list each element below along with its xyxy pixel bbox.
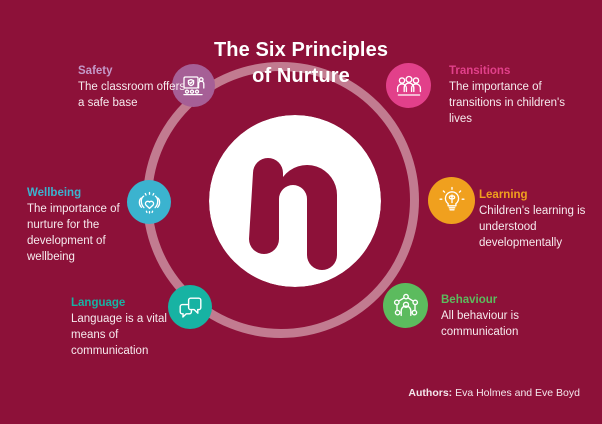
page-title: The Six Principles of Nurture [181,38,421,89]
infographic-poster: The Six Principles of Nurture [0,0,602,424]
label-transitions-heading: Transitions [449,64,579,79]
label-safety-heading: Safety [78,64,186,79]
label-language-body: Language is a vital means of communicati… [71,312,189,360]
authors-names: Eva Holmes and Eve Boyd [455,387,580,399]
nurture-n-logo [209,115,381,287]
lightbulb-brain-icon [437,186,467,216]
label-behaviour-body: All behaviour is communication [441,309,571,341]
label-transitions: Transitions The importance of transition… [449,64,579,128]
label-wellbeing-body: The importance of nurture for the develo… [27,202,155,265]
label-wellbeing-heading: Wellbeing [27,186,155,201]
label-language-heading: Language [71,296,189,311]
group-people-icon [395,72,423,100]
authors-credit: Authors: Eva Holmes and Eve Boyd [408,387,580,399]
label-language: Language Language is a vital means of co… [71,296,189,360]
label-behaviour: Behaviour All behaviour is communication [441,293,571,341]
label-transitions-body: The importance of transitions in childre… [449,80,579,128]
label-learning-heading: Learning [479,188,597,203]
node-behaviour[interactable] [383,283,428,328]
label-safety-body: The classroom offers a safe base [78,80,186,112]
label-learning: Learning Children's learning is understo… [479,188,597,252]
title-line-1: The Six Principles [181,38,421,64]
person-network-icon [392,292,420,320]
label-safety: Safety The classroom offers a safe base [78,64,186,112]
label-behaviour-heading: Behaviour [441,293,571,308]
authors-prefix: Authors: [408,387,452,399]
node-learning[interactable] [428,177,475,224]
node-transitions[interactable] [386,63,431,108]
title-line-2: of Nurture [181,64,421,90]
label-wellbeing: Wellbeing The importance of nurture for … [27,186,155,266]
label-learning-body: Children's learning is understood develo… [479,204,597,252]
